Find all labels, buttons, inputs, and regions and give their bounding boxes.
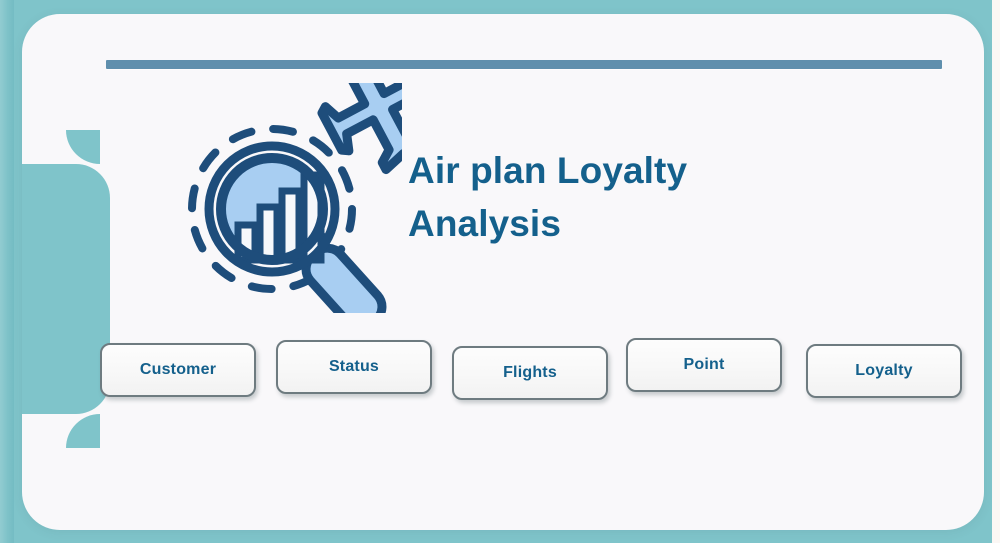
hero-section: Air plan Loyalty Analysis bbox=[172, 80, 892, 315]
main-card: Air plan Loyalty Analysis Customer Statu… bbox=[22, 14, 984, 530]
background-right-strip bbox=[992, 0, 1000, 543]
nav-button-status[interactable]: Status bbox=[276, 340, 432, 394]
page-title: Air plan Loyalty Analysis bbox=[408, 145, 687, 250]
nav-button-point-label: Point bbox=[684, 356, 725, 374]
nav-button-loyalty[interactable]: Loyalty bbox=[806, 344, 962, 398]
notch-join-bottom bbox=[66, 414, 100, 448]
nav-button-status-label: Status bbox=[329, 358, 379, 376]
nav-button-row: Customer Status Flights Point Loyalty bbox=[100, 332, 970, 412]
header-divider bbox=[106, 60, 942, 69]
nav-button-loyalty-label: Loyalty bbox=[855, 362, 912, 380]
card-left-notch-fill bbox=[22, 164, 66, 414]
magnifier-bar-chart-airplane-logo bbox=[172, 83, 402, 313]
notch-join-mask-top bbox=[66, 130, 100, 164]
notch-join-top bbox=[66, 130, 100, 164]
nav-button-flights[interactable]: Flights bbox=[452, 346, 608, 400]
nav-button-customer-label: Customer bbox=[140, 361, 216, 379]
nav-button-customer[interactable]: Customer bbox=[100, 343, 256, 397]
nav-button-flights-label: Flights bbox=[503, 364, 557, 382]
nav-button-point[interactable]: Point bbox=[626, 338, 782, 392]
page-root: Air plan Loyalty Analysis Customer Statu… bbox=[0, 0, 1000, 543]
notch-join-mask-bottom bbox=[66, 414, 100, 448]
page-title-line-2: Analysis bbox=[408, 203, 561, 244]
background-left-shade bbox=[0, 0, 14, 543]
page-title-line-1: Air plan Loyalty bbox=[408, 150, 687, 191]
